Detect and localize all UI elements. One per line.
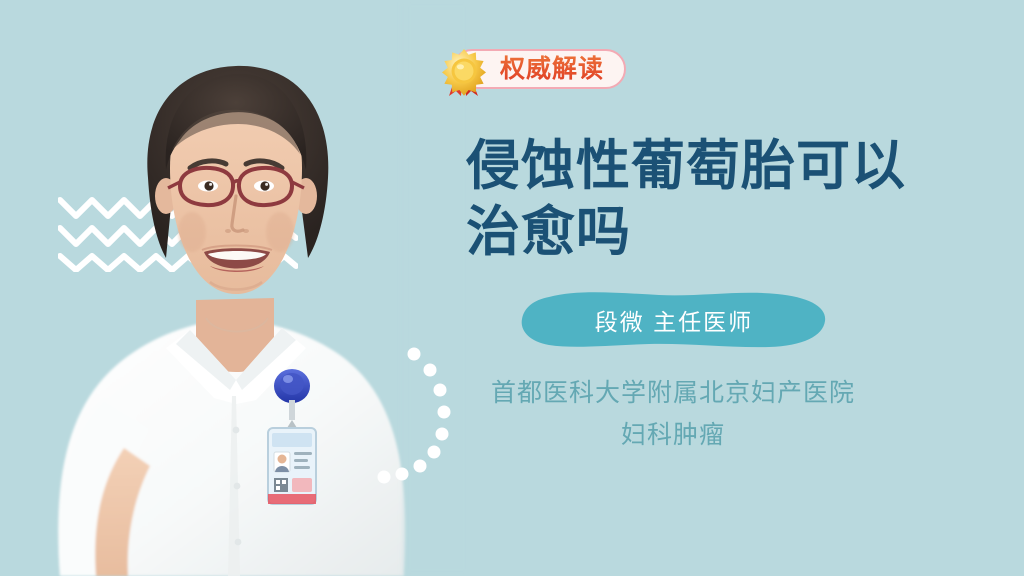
doctor-name-label: 段微 主任医师 — [519, 291, 829, 349]
authority-badge-pill: 权威解读 — [452, 49, 626, 89]
id-badge-group — [268, 369, 316, 504]
slide-canvas: 权威解读 侵蚀性葡萄胎可以 治愈吗 段微 主任医师 首都医科大学附属北京妇产医院… — [0, 0, 1024, 576]
authority-badge: 权威解读 — [438, 46, 626, 92]
doctor-name-badge: 段微 主任医师 — [519, 291, 829, 349]
hospital-name: 首都医科大学附属北京妇产医院 — [438, 372, 908, 414]
gold-medal-icon — [438, 46, 490, 100]
authority-badge-label: 权威解读 — [500, 49, 604, 89]
title-line-2: 治愈吗 — [466, 199, 986, 265]
title-line-1: 侵蚀性葡萄胎可以 — [466, 133, 986, 199]
affiliation-block: 首都医科大学附属北京妇产医院 妇科肿瘤 — [438, 372, 908, 456]
department-name: 妇科肿瘤 — [438, 414, 908, 456]
page-title: 侵蚀性葡萄胎可以 治愈吗 — [466, 133, 986, 265]
